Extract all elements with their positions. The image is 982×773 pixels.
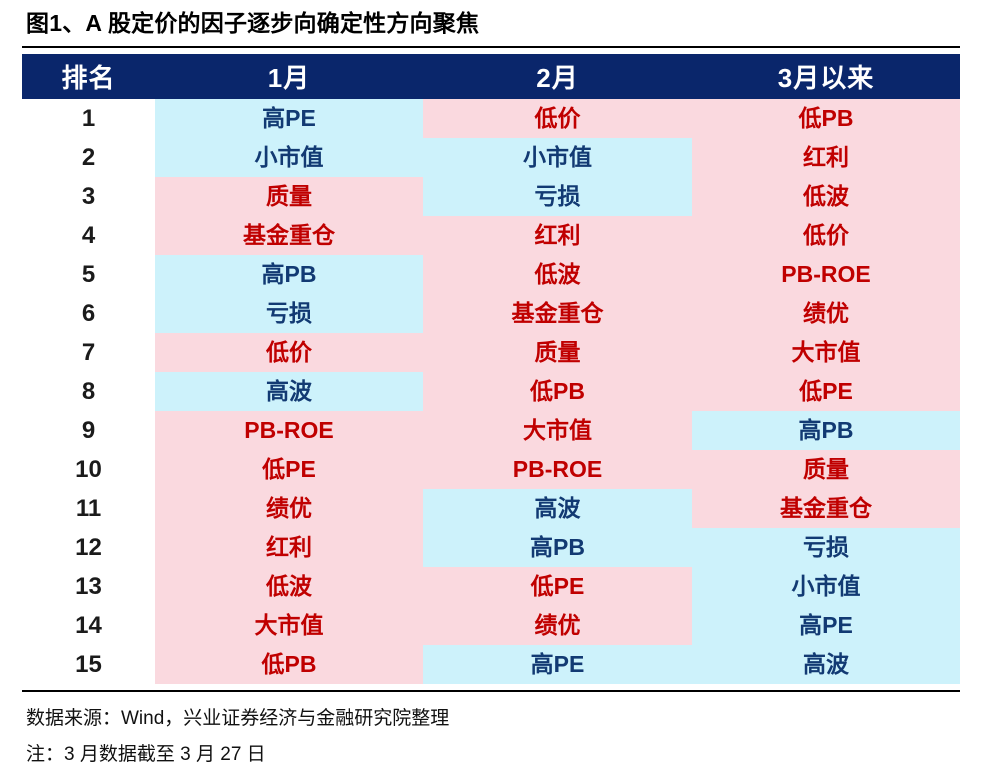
factor-cell-mar: 低波 [692, 177, 960, 216]
table-row: 12红利高PB亏损 [22, 528, 960, 567]
table-row: 15低PB高PE高波 [22, 645, 960, 684]
factor-cell-jan: 小市值 [155, 138, 423, 177]
factor-ranking-table: 排名 1月 2月 3月以来 1高PE低价低PB2小市值小市值红利3质量亏损低波4… [22, 54, 960, 684]
source-note: 数据来源：Wind，兴业证券经济与金融研究院整理 [26, 701, 982, 737]
table-header: 排名 1月 2月 3月以来 [22, 54, 960, 99]
factor-cell-feb: 基金重仓 [423, 294, 692, 333]
factor-cell-mar: 红利 [692, 138, 960, 177]
rank-cell: 4 [22, 216, 155, 255]
factor-cell-mar: 质量 [692, 450, 960, 489]
factor-cell-jan: 质量 [155, 177, 423, 216]
factor-cell-feb: 红利 [423, 216, 692, 255]
factor-cell-jan: 基金重仓 [155, 216, 423, 255]
column-header-mar: 3月以来 [692, 54, 960, 99]
factor-cell-jan: 低PB [155, 645, 423, 684]
rank-cell: 10 [22, 450, 155, 489]
factor-cell-feb: 高PE [423, 645, 692, 684]
rank-cell: 11 [22, 489, 155, 528]
factor-cell-feb: 高波 [423, 489, 692, 528]
table-row: 6亏损基金重仓绩优 [22, 294, 960, 333]
table-row: 8高波低PB低PE [22, 372, 960, 411]
factor-cell-feb: 大市值 [423, 411, 692, 450]
factor-cell-mar: 低PB [692, 99, 960, 138]
factor-cell-feb: 低PB [423, 372, 692, 411]
table-header-row: 排名 1月 2月 3月以来 [22, 54, 960, 99]
factor-cell-jan: 低价 [155, 333, 423, 372]
column-header-jan: 1月 [155, 54, 423, 99]
table-body: 1高PE低价低PB2小市值小市值红利3质量亏损低波4基金重仓红利低价5高PB低波… [22, 99, 960, 684]
rank-cell: 9 [22, 411, 155, 450]
factor-cell-feb: 小市值 [423, 138, 692, 177]
column-header-rank: 排名 [22, 54, 155, 99]
factor-cell-mar: 小市值 [692, 567, 960, 606]
factor-cell-feb: 低价 [423, 99, 692, 138]
footnotes: 数据来源：Wind，兴业证券经济与金融研究院整理 注：3 月数据截至 3 月 2… [0, 692, 982, 773]
factor-cell-jan: 低波 [155, 567, 423, 606]
table-row: 1高PE低价低PB [22, 99, 960, 138]
table-row: 2小市值小市值红利 [22, 138, 960, 177]
rank-cell: 8 [22, 372, 155, 411]
factor-cell-jan: 高PE [155, 99, 423, 138]
factor-cell-jan: 红利 [155, 528, 423, 567]
table-row: 3质量亏损低波 [22, 177, 960, 216]
column-header-feb: 2月 [423, 54, 692, 99]
factor-cell-jan: 低PE [155, 450, 423, 489]
factor-cell-feb: 高PB [423, 528, 692, 567]
factor-cell-mar: 大市值 [692, 333, 960, 372]
factor-cell-mar: 亏损 [692, 528, 960, 567]
rank-cell: 13 [22, 567, 155, 606]
rank-cell: 1 [22, 99, 155, 138]
factor-cell-jan: 大市值 [155, 606, 423, 645]
factor-cell-mar: 基金重仓 [692, 489, 960, 528]
factor-cell-feb: 质量 [423, 333, 692, 372]
rank-cell: 7 [22, 333, 155, 372]
rank-cell: 14 [22, 606, 155, 645]
factor-cell-mar: PB-ROE [692, 255, 960, 294]
table-row: 10低PEPB-ROE质量 [22, 450, 960, 489]
rank-cell: 6 [22, 294, 155, 333]
factor-cell-mar: 低PE [692, 372, 960, 411]
table-row: 13低波低PE小市值 [22, 567, 960, 606]
factor-cell-feb: 亏损 [423, 177, 692, 216]
factor-cell-jan: 绩优 [155, 489, 423, 528]
factor-cell-feb: 低PE [423, 567, 692, 606]
table-row: 11绩优高波基金重仓 [22, 489, 960, 528]
factor-cell-mar: 高PE [692, 606, 960, 645]
rank-cell: 12 [22, 528, 155, 567]
rank-cell: 3 [22, 177, 155, 216]
factor-cell-mar: 高波 [692, 645, 960, 684]
factor-cell-jan: PB-ROE [155, 411, 423, 450]
table-row: 7低价质量大市值 [22, 333, 960, 372]
factor-cell-mar: 低价 [692, 216, 960, 255]
table-row: 9PB-ROE大市值高PB [22, 411, 960, 450]
figure-title: 图1、A 股定价的因子逐步向确定性方向聚焦 [0, 0, 982, 46]
table-row: 5高PB低波PB-ROE [22, 255, 960, 294]
figure-panel: 图1、A 股定价的因子逐步向确定性方向聚焦 排名 1月 2月 3月以来 1高PE… [0, 0, 982, 755]
rank-cell: 5 [22, 255, 155, 294]
factor-cell-feb: 绩优 [423, 606, 692, 645]
factor-ranking-table-wrapper: 排名 1月 2月 3月以来 1高PE低价低PB2小市值小市值红利3质量亏损低波4… [22, 54, 960, 684]
title-divider [22, 46, 960, 48]
factor-cell-jan: 高波 [155, 372, 423, 411]
factor-cell-jan: 亏损 [155, 294, 423, 333]
rank-cell: 2 [22, 138, 155, 177]
table-row: 14大市值绩优高PE [22, 606, 960, 645]
factor-cell-mar: 绩优 [692, 294, 960, 333]
factor-cell-feb: PB-ROE [423, 450, 692, 489]
factor-cell-feb: 低波 [423, 255, 692, 294]
factor-cell-mar: 高PB [692, 411, 960, 450]
factor-cell-jan: 高PB [155, 255, 423, 294]
table-row: 4基金重仓红利低价 [22, 216, 960, 255]
rank-cell: 15 [22, 645, 155, 684]
